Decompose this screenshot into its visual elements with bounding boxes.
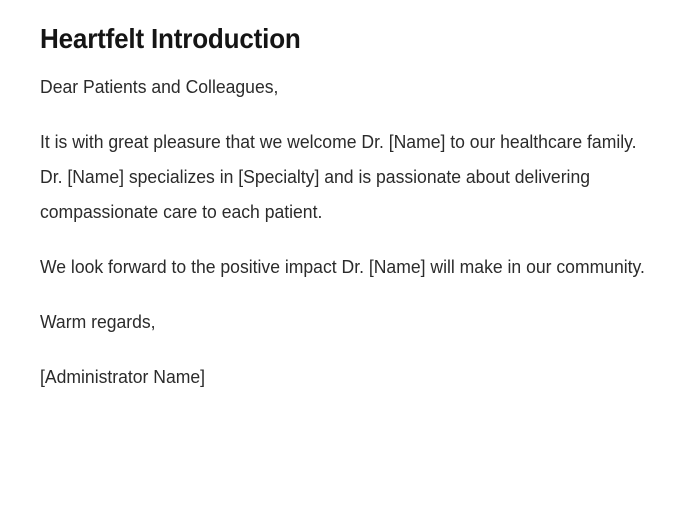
document-page: Heartfelt Introduction Dear Patients and…: [0, 0, 700, 510]
closing-text: Warm regards,: [40, 304, 648, 339]
body-paragraph-1: It is with great pleasure that we welcom…: [40, 124, 648, 229]
paragraph-spacer: [40, 229, 648, 249]
salutation-text: Dear Patients and Colleagues,: [40, 69, 648, 104]
signature-text: [Administrator Name]: [40, 359, 648, 394]
letter-body: Heartfelt Introduction Dear Patients and…: [40, 0, 648, 394]
title-spacer: [40, 54, 648, 69]
paragraph-spacer: [40, 104, 648, 124]
paragraph-spacer: [40, 284, 648, 304]
page-title: Heartfelt Introduction: [40, 0, 605, 54]
body-paragraph-2: We look forward to the positive impact D…: [40, 249, 648, 284]
paragraph-spacer: [40, 339, 648, 359]
